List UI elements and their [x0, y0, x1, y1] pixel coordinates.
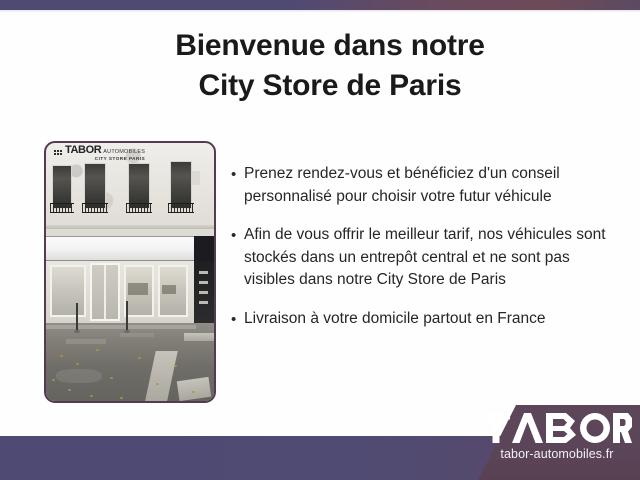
facade-balcony	[168, 203, 194, 213]
storefront-sign-dark-end	[194, 236, 214, 261]
storefront-interior-desk	[162, 285, 176, 294]
bollard	[126, 301, 128, 331]
bullet-text: Livraison à votre domicile partout en Fr…	[244, 308, 623, 331]
list-item: • Prenez rendez-vous et bénéficiez d'un …	[231, 163, 623, 208]
storefront-sign-word: AUTOMOBILES	[103, 149, 145, 156]
storefront-sign-sub: CITY STORE PARIS	[65, 156, 145, 162]
storefront-sign-content: TABOR AUTOMOBILES CITY STORE PARIS	[54, 145, 145, 162]
slide-title: Bienvenue dans notre City Store de Paris	[120, 26, 540, 106]
storefront-window	[50, 265, 86, 317]
bollard	[76, 303, 78, 331]
kerb-step	[184, 333, 214, 341]
top-accent-bar-sheen	[0, 10, 640, 13]
storefront-interior-desk	[128, 283, 148, 295]
bullet-text: Prenez rendez-vous et bénéficiez d'un co…	[244, 163, 623, 208]
neighbouring-shopfront	[194, 261, 214, 323]
kerb-stone	[177, 377, 211, 401]
facade-balcony	[126, 203, 152, 213]
bullet-list: • Prenez rendez-vous et bénéficiez d'un …	[231, 163, 623, 347]
slide-canvas: Bienvenue dans notre City Store de Paris	[0, 0, 640, 480]
storefront-sign-text-group: TABOR AUTOMOBILES CITY STORE PARIS	[65, 145, 145, 162]
pavement-patch	[120, 333, 154, 337]
facade-cornice	[46, 225, 214, 229]
tabor-wordmark-icon	[482, 412, 632, 446]
slide-title-line-1: Bienvenue dans notre	[175, 29, 484, 62]
storefront-photo: TABOR AUTOMOBILES CITY STORE PARIS	[46, 143, 214, 401]
storefront-photo-frame: TABOR AUTOMOBILES CITY STORE PARIS	[44, 141, 216, 403]
facade-window	[170, 161, 192, 209]
tabor-logo: tabor-automobiles.fr	[482, 412, 632, 461]
bullet-marker-icon: •	[231, 163, 244, 186]
pavement-patch	[66, 339, 106, 344]
tabor-website-url: tabor-automobiles.fr	[482, 447, 632, 461]
storefront-door	[90, 263, 120, 321]
slide-title-line-2: City Store de Paris	[120, 66, 540, 106]
storefront-sign-brand: TABOR	[65, 145, 101, 156]
facade-plaque	[192, 171, 200, 185]
bullet-text: Afin de vous offrir le meilleur tarif, n…	[244, 224, 623, 292]
bullet-marker-icon: •	[231, 224, 244, 247]
bullet-marker-icon: •	[231, 308, 244, 331]
facade-balcony	[50, 203, 74, 213]
top-accent-bar	[0, 0, 640, 10]
list-item: • Afin de vous offrir le meilleur tarif,…	[231, 224, 623, 292]
tabor-dots-icon	[54, 150, 62, 155]
list-item: • Livraison à votre domicile partout en …	[231, 308, 623, 331]
pavement-patch	[56, 369, 102, 383]
pavement-edge	[46, 325, 196, 329]
storefront-sign-band	[46, 236, 214, 261]
facade-balcony	[82, 203, 108, 213]
